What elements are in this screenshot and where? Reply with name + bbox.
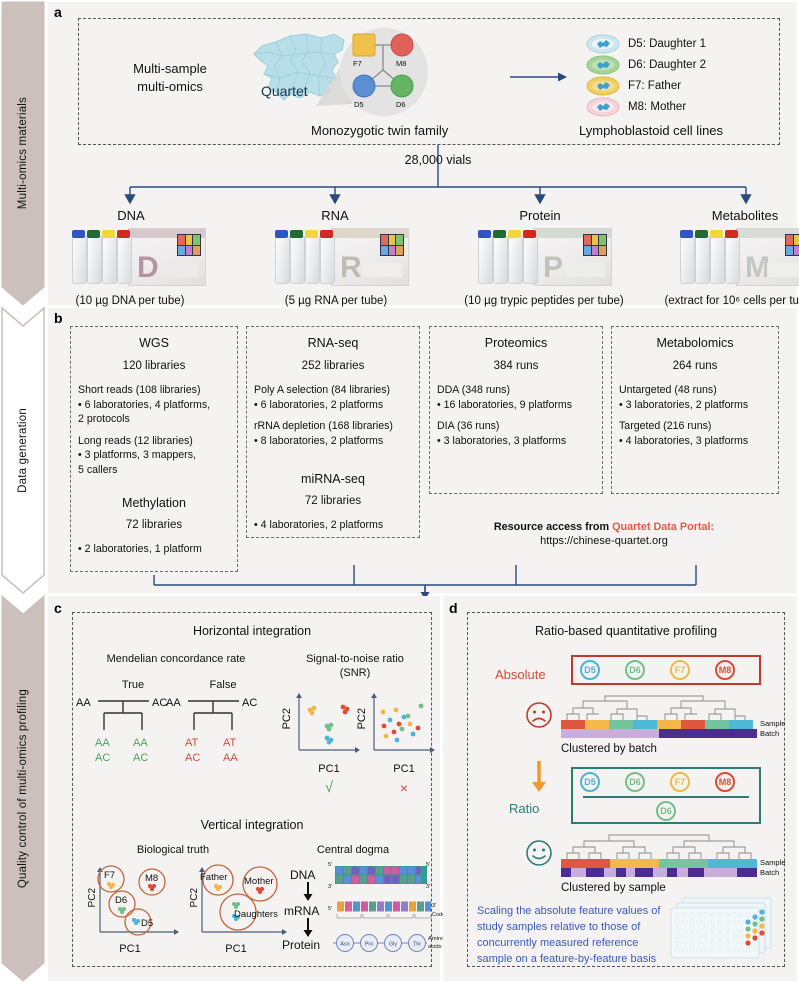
kit-box-metabolites: M <box>736 228 799 286</box>
pca-left-label-f7: F7 <box>104 870 115 883</box>
smiling-face-icon <box>525 839 553 867</box>
block-proteomics-line-4: • 3 laboratories, 3 platforms <box>437 434 602 449</box>
pca-right-label-daughters: Daughters <box>234 909 278 922</box>
snr-bad-cross-icon: × <box>369 779 439 797</box>
arrow-to-celllines <box>510 70 570 84</box>
dogma-dna-5prime-left: 5' <box>328 862 332 869</box>
stage-ribbons: Multi-omics materials Data generation Qu… <box>0 0 46 983</box>
block-metabolomics-line-1: • 3 laboratories, 2 platforms <box>619 398 778 413</box>
block-methylation-title: Methylation <box>71 496 237 510</box>
mendelian-true-child2-a1: AA <box>133 736 148 751</box>
block-wgs-line-0: Short reads (108 libraries) <box>78 383 237 398</box>
pca-left-label-d5: D5 <box>141 918 153 931</box>
cellline-label-d5: D5: Daughter 1 <box>628 37 706 52</box>
pca-left-label-m8: M8 <box>145 873 158 886</box>
clustered-by-sample-caption: Clustered by sample <box>561 881 666 896</box>
horizontal-integration-title: Horizontal integration <box>72 624 432 638</box>
product-kit-metabolites: M <box>678 226 799 288</box>
block-mirnaseq-title: miRNA-seq <box>247 472 419 486</box>
svg-text:Asn: Asn <box>340 942 349 948</box>
dogma-dna-3prime-left: 3' <box>328 884 332 891</box>
dendrogram-by-batch <box>561 694 757 720</box>
block-wgs: WGS 120 libraries Short reads (108 libra… <box>70 326 238 572</box>
snr-good-scatter <box>291 688 363 760</box>
snr-bad-xaxis: PC1 <box>369 762 439 777</box>
kit-vials-rna <box>273 234 333 286</box>
block-metabolomics-subtitle: 264 runs <box>612 360 778 372</box>
dendrogram-by-sample <box>561 833 757 859</box>
pca-right-label-father: Father <box>200 872 227 885</box>
mendelian-false-child2-a2: AA <box>223 751 238 766</box>
mendelian-true-child1-a2: AC <box>95 751 110 766</box>
panel-b-letter: b <box>54 310 63 326</box>
mendelian-false-child1-a1: AT <box>185 736 198 751</box>
pedigree-label-f7: F7 <box>353 59 362 69</box>
kit-vials-metabolites <box>678 234 738 286</box>
cellline-dish-icon-d5 <box>586 34 620 54</box>
kit-letter-protein: P <box>543 253 563 283</box>
block-proteomics-line-1: • 16 laboratories, 9 platforms <box>437 398 602 413</box>
block-metabolomics: Metabolomics 264 runs Untargeted (48 run… <box>611 326 779 494</box>
block-rnaseq-subtitle: 252 libraries <box>247 360 419 372</box>
stage-label-data: Data generation <box>17 408 29 493</box>
block-wgs-line-5: • 3 platforms, 3 mappers, <box>78 448 237 463</box>
dogma-arrow-transcription <box>300 882 316 902</box>
svg-text:Thr: Thr <box>413 942 421 948</box>
mendelian-false-label: False <box>198 678 248 693</box>
stage-label-qc: Quality control of multi-omics profiling <box>17 689 29 888</box>
kit-box-rna: R <box>331 228 409 286</box>
dogma-protein-chain: Asn Pro Gly Thr <box>331 932 435 954</box>
block-proteomics: Proteomics 384 runs DDA (348 runs) • 16 … <box>429 326 603 494</box>
resource-url[interactable]: https://chinese-quartet.org <box>429 535 779 547</box>
dogma-amino-label-2: acids <box>428 944 442 952</box>
panel-c-letter: c <box>54 600 62 616</box>
ratio-numerator-f7: F7 <box>670 772 690 792</box>
pca-left-xaxis: PC1 <box>100 942 160 957</box>
block-rnaseq-line-1: • 6 laboratories, 2 platforms <box>254 398 419 413</box>
mendelian-true-child2-a2: AC <box>133 751 148 766</box>
snr-title-line2: (SNR) <box>280 667 430 679</box>
mendelian-false-child1-a2: AC <box>185 751 200 766</box>
kit-box-dna: D <box>128 228 206 286</box>
snr-good-xaxis: PC1 <box>294 762 364 777</box>
heatmap-sample-row-label-sample: Sample <box>760 858 785 867</box>
resource-access: Resource access from Quartet Data Portal… <box>429 521 779 547</box>
celllines-caption: Lymphoblastoid cell lines <box>579 122 723 139</box>
map-label-quartet: Quartet <box>261 82 308 100</box>
block-proteomics-line-3: DIA (36 runs) <box>437 419 602 434</box>
block-metabolomics-line-4: • 4 laboratories, 3 platforms <box>619 434 778 449</box>
kit-vials-protein <box>476 234 536 286</box>
dogma-mrna-strand <box>333 900 433 914</box>
ratio-note-line-2: concurrently measured reference <box>477 936 692 952</box>
pca-right-label-mother: Mother <box>244 876 274 889</box>
product-caption-metabolites: (extract for 10⁶ cells per tube) <box>640 294 799 309</box>
heatmap-sample-batch-row <box>561 868 757 877</box>
cellline-label-m8: M8: Mother <box>628 100 686 115</box>
block-rnaseq-line-3: rRNA depletion (168 libraries) <box>254 419 419 434</box>
dogma-mrna-3prime: 3' <box>432 903 436 910</box>
panel-c: c Horizontal integration Mendelian conco… <box>48 596 440 981</box>
product-title-dna: DNA <box>76 207 186 224</box>
kit-box-protein: P <box>534 228 612 286</box>
ratio-note-line-1: study samples relative to those of <box>477 920 692 936</box>
heatmap-batch-row-label-sample: Sample <box>760 719 785 728</box>
panel-a: a Multi-sample multi-omics Quartet <box>48 2 797 305</box>
ratio-fraction-bar <box>583 796 749 798</box>
ratio-profiling-title: Ratio-based quantitative profiling <box>467 624 785 638</box>
product-kit-rna: R <box>273 226 409 288</box>
central-dogma-title: Central dogma <box>278 844 428 856</box>
mendelian-true-child1-a1: AA <box>95 736 110 751</box>
panel-d: d Ratio-based quantitative profiling Abs… <box>443 596 797 981</box>
intro-label-line1: Multi-sample <box>110 60 230 77</box>
block-methylation-subtitle: 72 libraries <box>71 519 237 531</box>
pedigree-label-m8: M8 <box>396 59 406 69</box>
block-mirnaseq-subtitle: 72 libraries <box>247 495 419 507</box>
block-proteomics-subtitle: 384 runs <box>430 360 602 372</box>
product-title-rna: RNA <box>280 207 390 224</box>
resource-prefix: Resource access from <box>494 521 612 533</box>
block-wgs-line-1: • 6 laboratories, 4 platforms, <box>78 398 237 413</box>
ratio-numerator-d6: D6 <box>625 772 645 792</box>
panel-a-letter: a <box>54 4 62 20</box>
pca-left-yaxis: PC2 <box>86 888 99 907</box>
panel-b: b WGS 120 libraries Short reads (108 lib… <box>48 308 797 593</box>
block-rnaseq: RNA-seq 252 libraries Poly A selection (… <box>246 326 420 538</box>
ratio-denominator-d6: D6 <box>656 801 676 821</box>
ratio-note-line-3: sample on a feature-by-feature basis <box>477 952 692 968</box>
svg-text:Pro: Pro <box>365 942 374 948</box>
heatmap-sample-sample-row <box>561 859 757 868</box>
kit-swatch-grid-rna <box>380 234 404 256</box>
mendelian-false-pedigree <box>186 694 246 734</box>
block-wgs-line-4: Long reads (12 libraries) <box>78 434 237 449</box>
heatmap-batch-sample-row <box>561 720 757 729</box>
cellline-dish-icon-m8 <box>586 97 620 117</box>
ratio-label: Ratio <box>509 800 539 817</box>
block-rnaseq-line-4: • 8 laboratories, 2 platforms <box>254 434 419 449</box>
snr-title-line1: Signal-to-noise ratio <box>280 653 430 665</box>
cellline-dish-icon-f7 <box>586 76 620 96</box>
mendelian-false-child2-a1: AT <box>223 736 236 751</box>
dogma-codon-brackets <box>335 914 433 920</box>
pca-right-xaxis: PC1 <box>206 942 266 957</box>
panel-a-distribution-tree <box>78 145 780 205</box>
pedigree-label-d5: D5 <box>354 100 364 110</box>
mendelian-true-label: True <box>108 678 158 693</box>
intro-label-line2: multi-omics <box>110 78 230 95</box>
figure-root: Multi-omics materials Data generation Qu… <box>0 0 799 983</box>
ratio-numerator-d5: D5 <box>580 772 600 792</box>
cellline-label-f7: F7: Father <box>628 79 681 94</box>
family-caption: Monozygotic twin family <box>311 122 448 139</box>
block-proteomics-title: Proteomics <box>430 336 602 350</box>
block-metabolomics-line-3: Targeted (216 runs) <box>619 419 778 434</box>
heatmap-batch-batch-row <box>561 729 757 738</box>
pca-right-yaxis: PC2 <box>188 888 201 907</box>
pedigree-label-d6: D6 <box>396 100 406 110</box>
product-kit-protein: P <box>476 226 612 288</box>
cellline-label-d6: D6: Daughter 2 <box>628 58 706 73</box>
kit-letter-dna: D <box>137 253 159 283</box>
stage-ribbon-data: Data generation <box>2 308 44 593</box>
pca-left-label-d6: D6 <box>115 895 127 908</box>
product-title-protein: Protein <box>485 207 595 224</box>
frowning-face-icon <box>525 701 553 729</box>
product-kit-dna: D <box>70 226 206 288</box>
block-wgs-subtitle: 120 libraries <box>71 360 237 372</box>
kit-letter-rna: R <box>340 253 362 283</box>
stage-ribbon-qc: Quality control of multi-omics profiling <box>2 596 44 981</box>
vertical-integration-title: Vertical integration <box>72 818 432 832</box>
block-metabolomics-title: Metabolomics <box>612 336 778 350</box>
mendelian-false-parent-1: AA <box>166 696 181 711</box>
snr-good-check-icon: √ <box>294 778 364 798</box>
block-rnaseq-line-0: Poly A selection (84 libraries) <box>254 383 419 398</box>
product-title-metabolites: Metabolites <box>685 207 799 224</box>
dogma-dna-strand <box>331 864 431 888</box>
absolute-sample-f7: F7 <box>670 660 690 680</box>
dogma-mrna-5prime: 5' <box>328 906 332 913</box>
product-caption-dna: (10 µg DNA per tube) <box>60 294 200 309</box>
ratio-note: Scaling the absolute feature values of s… <box>477 904 692 968</box>
svg-text:Gly: Gly <box>389 942 398 948</box>
block-wgs-line-2: 2 protocols <box>78 412 237 427</box>
product-caption-rna: (5 µg RNA per tube) <box>266 294 406 309</box>
mendelian-true-pedigree <box>96 694 156 734</box>
block-wgs-line-6: 5 callers <box>78 463 237 478</box>
absolute-sample-d5: D5 <box>580 660 600 680</box>
heatmap-batch-row-label-batch: Batch <box>760 729 779 738</box>
block-mirnaseq-line-0: • 4 laboratories, 2 platforms <box>254 518 419 533</box>
ratio-numerator-m8: M8 <box>715 772 735 792</box>
cellline-dish-icon-d6 <box>586 55 620 75</box>
dogma-arrow-translation <box>300 918 316 938</box>
block-rnaseq-title: RNA-seq <box>247 336 419 350</box>
pca-plot-codes <box>86 862 186 946</box>
kit-swatch-grid-protein <box>583 234 607 256</box>
dogma-dna-5prime-right: 5' <box>426 862 430 869</box>
stage-label-materials: Multi-omics materials <box>17 97 29 209</box>
kit-swatch-grid-metabolites <box>785 234 799 256</box>
mendelian-true-parent-1: AA <box>76 696 91 711</box>
snr-bad-scatter <box>366 688 438 760</box>
absolute-label: Absolute <box>495 666 546 683</box>
resource-portal-name: Quartet Data Portal: <box>612 521 714 533</box>
mendelian-title: Mendelian concordance rate <box>76 653 276 665</box>
product-caption-protein: (10 µg trypic peptides per tube) <box>444 294 644 309</box>
dogma-label-protein: Protein <box>282 938 320 954</box>
dogma-amino-label-1: Amino <box>428 936 444 944</box>
transform-arrow-icon <box>530 761 548 793</box>
block-proteomics-line-0: DDA (348 runs) <box>437 383 602 398</box>
absolute-sample-d6: D6 <box>625 660 645 680</box>
block-metabolomics-line-0: Untargeted (48 runs) <box>619 383 778 398</box>
absolute-sample-m8: M8 <box>715 660 735 680</box>
panel-d-letter: d <box>449 600 458 616</box>
kit-swatch-grid-dna <box>177 234 201 256</box>
block-methylation-line-0: • 2 laboratories, 1 platform <box>78 542 237 557</box>
snr-bad-yaxis: PC2 <box>355 708 370 729</box>
dogma-dna-3prime-right: 3' <box>426 884 430 891</box>
snr-good-yaxis: PC2 <box>280 708 295 729</box>
clustered-by-batch-caption: Clustered by batch <box>561 742 657 757</box>
heatmap-sample-row-label-batch: Batch <box>760 868 779 877</box>
stage-ribbon-materials: Multi-omics materials <box>2 2 44 305</box>
ratio-note-line-0: Scaling the absolute feature values of <box>477 904 692 920</box>
biological-truth-title: Biological truth <box>78 844 268 856</box>
block-wgs-title: WGS <box>71 336 237 350</box>
kit-vials-dna <box>70 234 130 286</box>
